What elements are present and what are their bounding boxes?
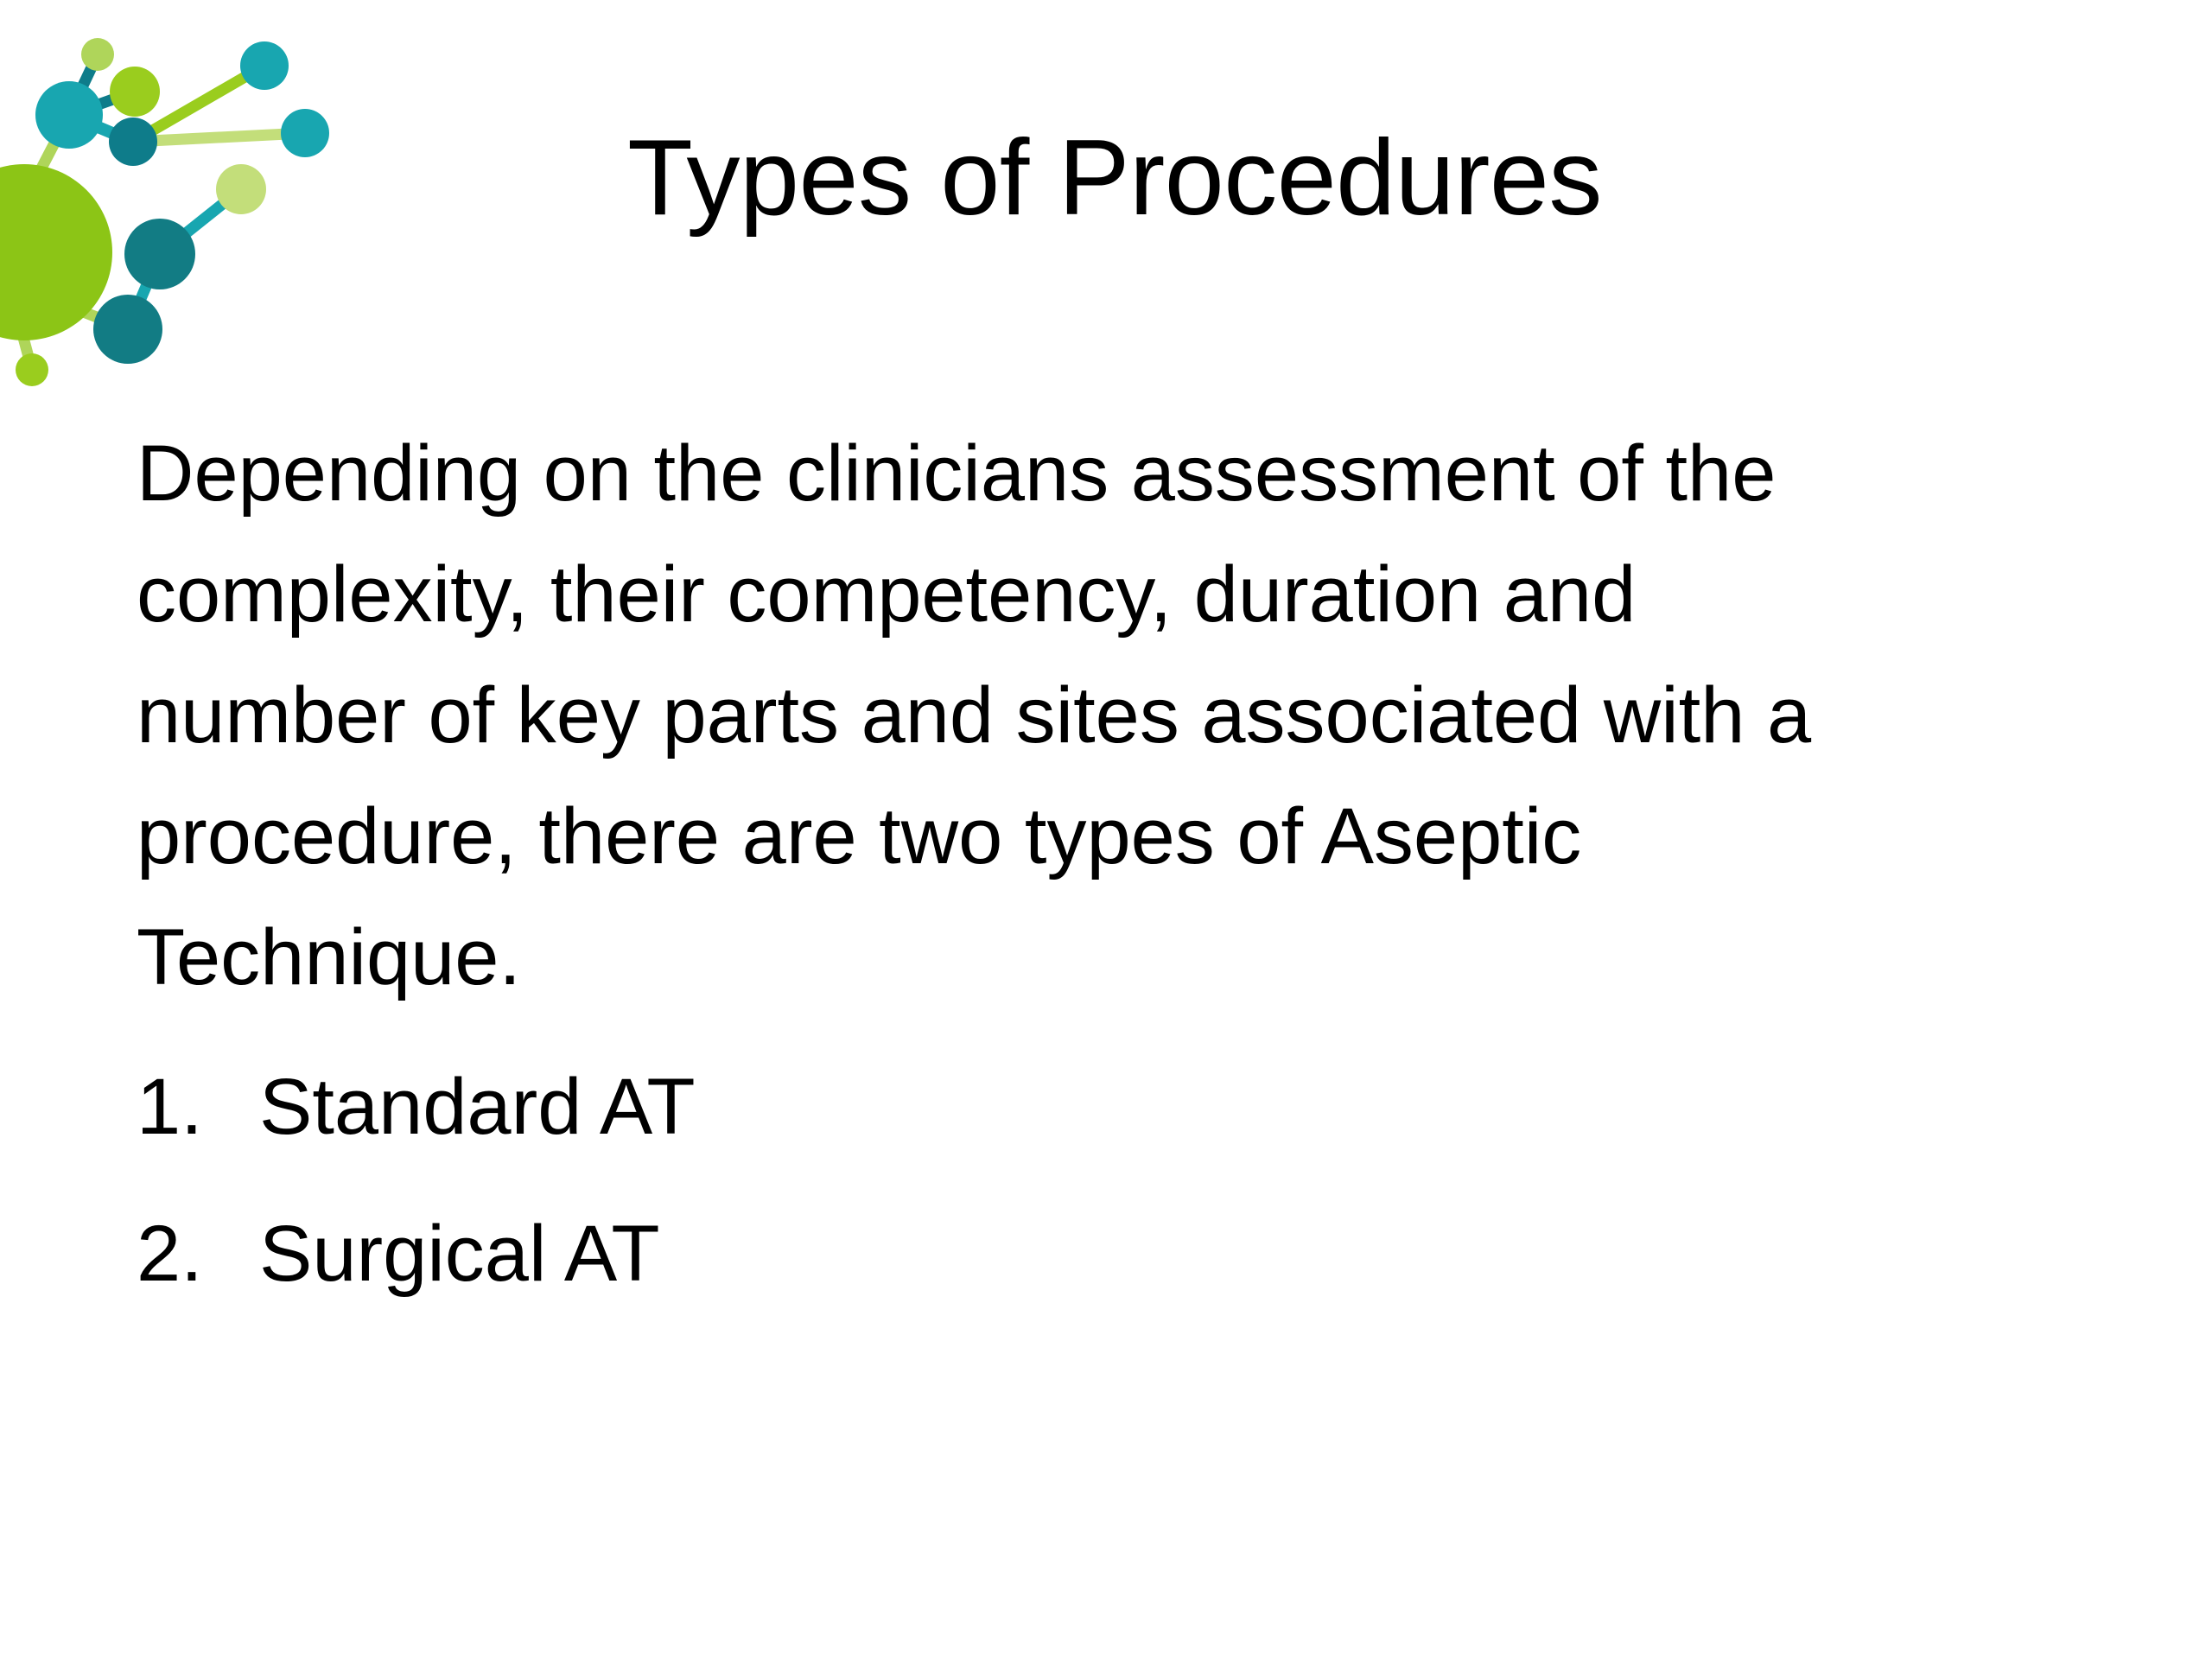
node-teal-right-mid [281, 109, 329, 157]
paragraph-line: procedure, there are two types of Asepti… [137, 776, 2124, 897]
molecule-network-graphic [0, 0, 363, 415]
body-paragraph: Depending on the clinicians assessment o… [137, 413, 2124, 1018]
network-nodes [0, 38, 329, 386]
paragraph-line: Depending on the clinicians assessment o… [137, 413, 2124, 534]
list-item: 2. Surgical AT [137, 1180, 2124, 1327]
node-light-green-top [81, 38, 114, 71]
paragraph-line: Technique. [137, 897, 2124, 1018]
slide-title: Types of Procedures [406, 121, 1823, 237]
connector-lines [19, 54, 305, 370]
node-green-small-bottom [16, 353, 48, 386]
node-teal-deep-center [124, 219, 195, 289]
node-green-large [0, 164, 112, 340]
node-green-bright-small [110, 67, 160, 117]
node-green-pale-mid [216, 164, 266, 214]
slide: Types of Procedures Depending on the cli… [0, 0, 2212, 1659]
list-item: 1. Standard AT [137, 1033, 2124, 1180]
slide-body: Depending on the clinicians assessment o… [137, 413, 2124, 1327]
node-teal-large [35, 81, 103, 149]
list-item-number: 2. [137, 1180, 259, 1327]
node-teal-deep-bottom [93, 295, 162, 364]
procedure-types-list: 1. Standard AT 2. Surgical AT [137, 1033, 2124, 1327]
paragraph-line: number of key parts and sites associated… [137, 655, 2124, 776]
node-teal-dark-hub [109, 118, 157, 166]
list-item-label: Surgical AT [259, 1180, 660, 1327]
list-item-number: 1. [137, 1033, 259, 1180]
node-teal-right-top [240, 41, 289, 90]
paragraph-line: complexity, their competency, duration a… [137, 534, 2124, 655]
list-item-label: Standard AT [259, 1033, 696, 1180]
